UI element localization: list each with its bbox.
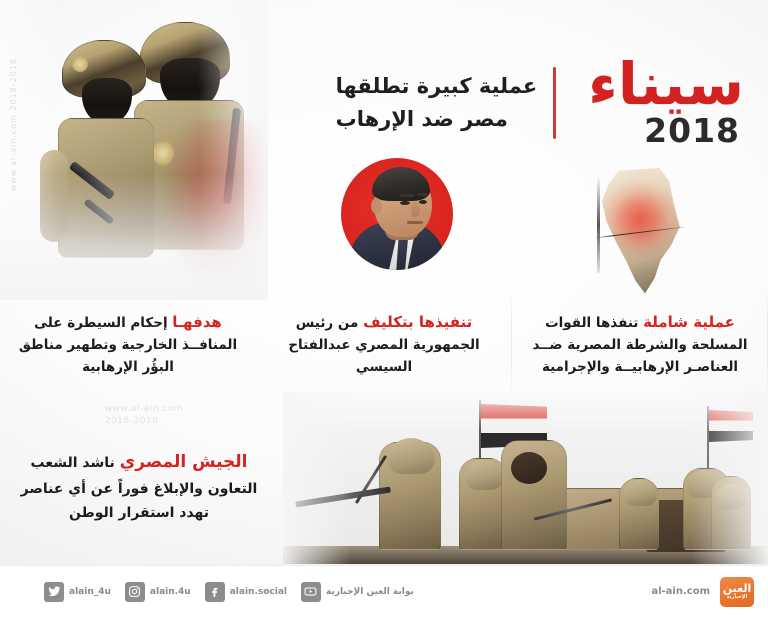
subtitle: عملية كبيرة تطلقها مصر ضد الإرهاب (336, 73, 538, 133)
title-year: 2018 (644, 114, 740, 147)
fact-highlight-scope: عملية شاملة (643, 313, 735, 331)
fact-text-scope: عملية شاملة تنفذها القوات المسلحة والشرط… (530, 310, 750, 379)
portrait-mouth (407, 221, 423, 224)
social-label-instagram: alain.4u (150, 587, 191, 597)
watermark-center: www.al-ain.com 2018-2018 (105, 404, 183, 427)
callout-text: الجيش المصري ناشد الشعب التعاون والإبلاغ… (8, 448, 270, 525)
infographic-poster: سيناء 2018 عملية كبيرة تطلقها مصر ضد الإ… (0, 0, 768, 617)
social-twitter[interactable]: alain_4u (44, 582, 111, 602)
portrait-ear (371, 198, 382, 214)
fact-text-order: تنفيذها بتكليف من رئيس الجمهورية المصري … (274, 310, 494, 379)
instagram-icon (125, 582, 145, 602)
subtitle-line-1: عملية كبيرة تطلقها (336, 73, 538, 99)
sinai-map-coast-edge (597, 176, 600, 273)
fact-column-goal: هدفهـا إحكام السيطرة على المنافــذ الخار… (0, 310, 256, 400)
portrait-eye-left (400, 201, 410, 205)
social-youtube[interactable]: بوابة العين الإخبارية (301, 582, 414, 602)
portrait-figure (341, 158, 453, 270)
header: سيناء 2018 عملية كبيرة تطلقها مصر ضد الإ… (270, 50, 750, 155)
page-title: سيناء (588, 58, 744, 111)
fact-column-scope: عملية شاملة تنفذها القوات المسلحة والشرط… (512, 310, 768, 400)
army-photo-fade-overlay (283, 392, 768, 564)
footer: alain_4u alain.4u alain.social بوابة الع… (0, 565, 768, 617)
portrait-nose (411, 201, 420, 217)
sinai-map (585, 168, 705, 296)
al-ain-logo[interactable]: العين الإخبارية (720, 577, 754, 607)
fact-text-goal: هدفهـا إحكام السيطرة على المنافــذ الخار… (18, 310, 238, 379)
fact-column-order: تنفيذها بتكليف من رئيس الجمهورية المصري … (256, 310, 512, 400)
fact-highlight-goal: هدفهـا (172, 313, 222, 331)
title-divider (553, 67, 556, 139)
watermark-center-line-2: 2018-2018 (105, 416, 183, 428)
portrait-brow-right (417, 193, 428, 196)
logo-line-2: الإخبارية (727, 595, 748, 600)
portrait-eye-right (419, 200, 427, 204)
watermark-center-line-1: www.al-ain.com (105, 404, 183, 416)
facebook-icon (205, 582, 225, 602)
youtube-icon (301, 582, 321, 602)
social-label-twitter: alain_4u (69, 587, 111, 597)
subtitle-line-2: مصر ضد الإرهاب (336, 106, 508, 132)
photo-fade-overlay (0, 0, 268, 300)
social-facebook[interactable]: alain.social (205, 582, 287, 602)
callout-highlight: الجيش المصري (120, 452, 248, 472)
army-photo (283, 392, 768, 564)
social-label-facebook: alain.social (230, 587, 287, 597)
twitter-icon (44, 582, 64, 602)
social-label-youtube: بوابة العين الإخبارية (326, 587, 414, 597)
fact-highlight-order: تنفيذها بتكليف (363, 313, 472, 331)
portrait-brow-left (399, 194, 414, 197)
fact-columns: هدفهـا إحكام السيطرة على المنافــذ الخار… (0, 310, 768, 400)
soldiers-photo (0, 0, 268, 300)
footer-brand: al-ain.com العين الإخبارية (651, 577, 754, 607)
social-instagram[interactable]: alain.4u (125, 582, 191, 602)
title-block: سيناء 2018 (574, 58, 750, 146)
social-links: alain_4u alain.4u alain.social بوابة الع… (44, 582, 414, 602)
logo-line-1: العين (723, 583, 752, 594)
president-portrait (341, 158, 453, 270)
callout-block: الجيش المصري ناشد الشعب التعاون والإبلاغ… (8, 448, 270, 525)
site-url[interactable]: al-ain.com (651, 586, 710, 597)
